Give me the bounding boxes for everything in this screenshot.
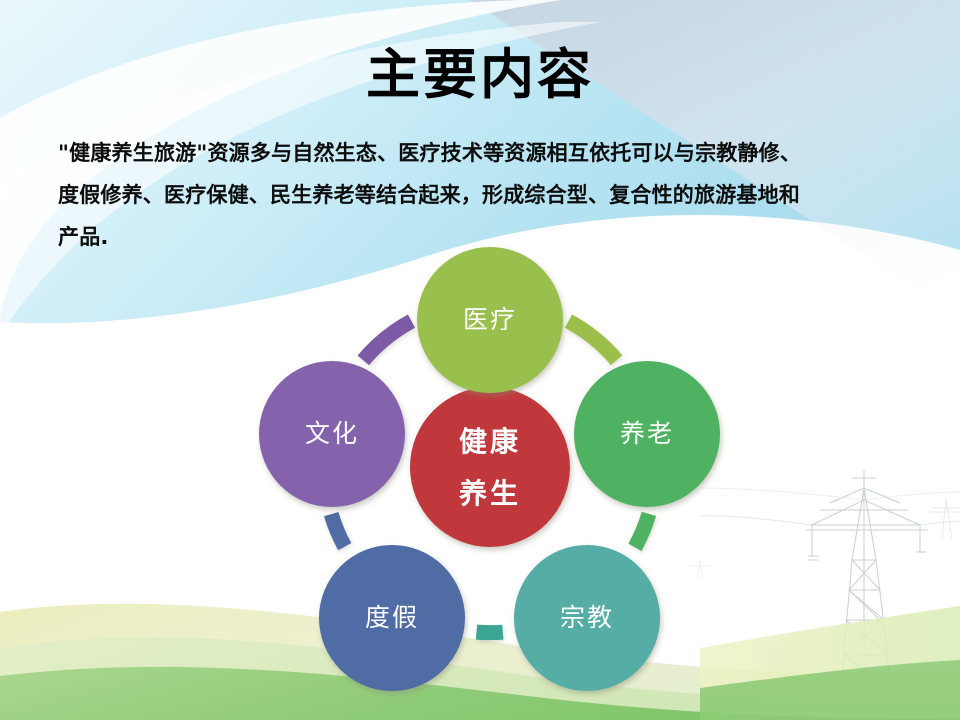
body-line-1: "健康养生旅游"资源多与自然生态、医疗技术等资源相互依托可以与宗教静修、 bbox=[58, 132, 910, 174]
node-yanglao[interactable]: 养老 bbox=[574, 361, 720, 507]
health-wellness-cycle-diagram: 健康 养生 医疗 养老 宗教 度假 文化 bbox=[255, 248, 725, 708]
node-yanglao-label: 养老 bbox=[620, 419, 674, 448]
center-node-health-wellness[interactable]: 健康 养生 bbox=[410, 387, 570, 547]
hill-band-right-lower bbox=[700, 660, 960, 720]
arc-zongjiao-dujia bbox=[477, 632, 503, 633]
transmission-tower-icon bbox=[690, 470, 960, 720]
node-yiliao-label: 医疗 bbox=[463, 305, 517, 334]
arc-dujia-wenhua bbox=[331, 514, 345, 547]
arc-wenhua-yiliao bbox=[363, 321, 411, 360]
node-wenhua-label: 文化 bbox=[305, 419, 359, 448]
node-yiliao[interactable]: 医疗 bbox=[417, 247, 563, 393]
body-paragraph: "健康养生旅游"资源多与自然生态、医疗技术等资源相互依托可以与宗教静修、 度假修… bbox=[58, 132, 910, 258]
arc-yiliao-yanglao bbox=[569, 321, 617, 360]
center-node-label-line2: 养生 bbox=[459, 477, 521, 510]
body-line-2: 度假修养、医疗保健、民生养老等结合起来，形成综合型、复合性的旅游基地和 bbox=[58, 174, 910, 216]
body-line-3: 产品. bbox=[58, 216, 910, 258]
center-node-circle[interactable] bbox=[410, 387, 570, 547]
node-dujia-label: 度假 bbox=[365, 603, 419, 632]
page-title: 主要内容 bbox=[0, 44, 960, 106]
node-zongjiao[interactable]: 宗教 bbox=[514, 545, 660, 691]
hill-band-right bbox=[700, 606, 960, 688]
arc-yanglao-zongjiao bbox=[635, 514, 649, 547]
center-node-label-line1: 健康 bbox=[459, 425, 521, 458]
node-zongjiao-label: 宗教 bbox=[560, 603, 614, 632]
slide-canvas: 主要内容 "健康养生旅游"资源多与自然生态、医疗技术等资源相互依托可以与宗教静修… bbox=[0, 0, 960, 720]
node-wenhua[interactable]: 文化 bbox=[259, 361, 405, 507]
node-dujia[interactable]: 度假 bbox=[319, 545, 465, 691]
